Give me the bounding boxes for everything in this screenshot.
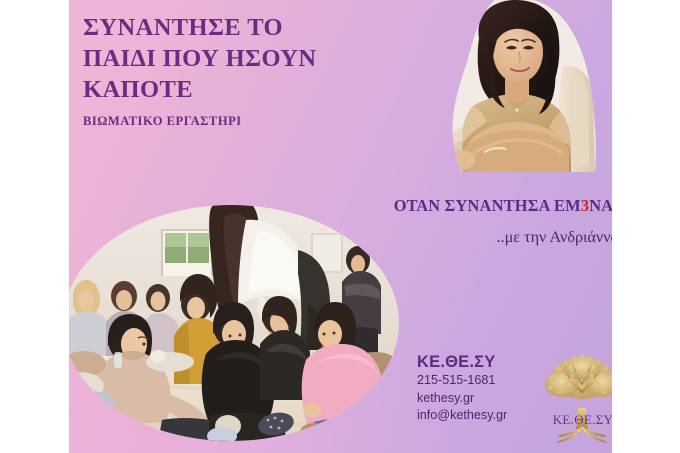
poster-background: ΣΥΝΑΝΤΗΣΕ ΤΟ ΠΑΙΔΙ ΠΟΥ ΗΣΟΥΝ ΚΑΠΟΤΕ ΒΙΩΜ… bbox=[69, 0, 612, 453]
contact-block: ΚΕ.ΘΕ.ΣΥ 215-515-1681 kethesy.gr info@ke… bbox=[417, 353, 537, 425]
headline-line-1: ΣΥΝΑΝΤΗΣΕ ΤΟ bbox=[83, 12, 383, 43]
contact-website[interactable]: kethesy.gr bbox=[417, 390, 537, 408]
tagline-block: ΟΤΑΝ ΣΥΝΑΝΤΗΣΑ ΕΜ3ΝΑ! ..με την Ανδριάννα bbox=[369, 196, 612, 247]
tagline-text-before: ΟΤΑΝ ΣΥΝΑΝΤΗΣΑ ΕΜ bbox=[394, 196, 581, 215]
tagline-line-2: ..με την Ανδριάννα bbox=[369, 228, 612, 247]
organization-name: ΚΕ.ΘΕ.ΣΥ bbox=[417, 353, 537, 372]
group-photo bbox=[69, 204, 400, 442]
contact-phone[interactable]: 215-515-1681 bbox=[417, 372, 537, 390]
headline-line-2: ΠΑΙΔΙ ΠΟΥ ΗΣΟΥΝ bbox=[83, 43, 383, 74]
poster-canvas: ΣΥΝΑΝΤΗΣΕ ΤΟ ΠΑΙΔΙ ΠΟΥ ΗΣΟΥΝ ΚΑΠΟΤΕ ΒΙΩΜ… bbox=[0, 0, 680, 453]
contact-email[interactable]: info@kethesy.gr bbox=[417, 407, 537, 425]
tagline-highlight-number: 3 bbox=[581, 196, 589, 215]
headline-line-3: ΚΑΠΟΤΕ bbox=[83, 74, 383, 105]
headline-block: ΣΥΝΑΝΤΗΣΕ ΤΟ ΠΑΙΔΙ ΠΟΥ ΗΣΟΥΝ ΚΑΠΟΤΕ ΒΙΩΜ… bbox=[83, 12, 383, 129]
logo-caption: ΚΕ.ΘΕ.ΣΥ bbox=[537, 412, 612, 428]
headline-subtitle: ΒΙΩΜΑΤΙΚΟ ΕΡΓΑΣΤΗΡΙ bbox=[83, 114, 383, 129]
tree-logo: ΚΕ.ΘΕ.ΣΥ bbox=[532, 348, 612, 448]
tagline-line-1: ΟΤΑΝ ΣΥΝΑΝΤΗΣΑ ΕΜ3ΝΑ! bbox=[369, 196, 612, 216]
portrait-photo bbox=[421, 0, 605, 172]
tagline-text-after: ΝΑ! bbox=[589, 196, 612, 215]
